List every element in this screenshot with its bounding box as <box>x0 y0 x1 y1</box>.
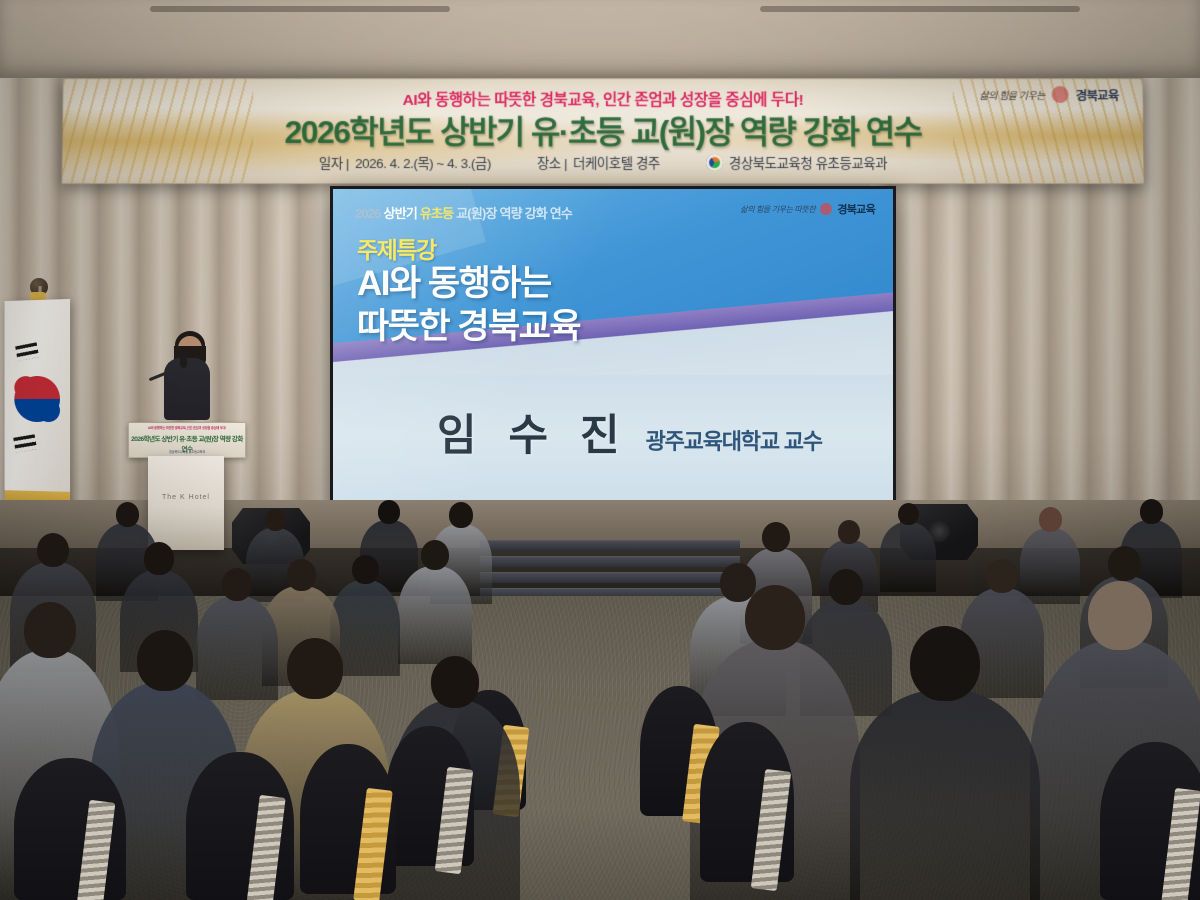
banner-organizer-label: 경상북도교육청 유초등교육과 <box>729 152 887 172</box>
audience-head <box>898 503 919 526</box>
audience-person <box>850 690 1040 900</box>
gyeongbuk-office-logo-icon <box>706 154 723 171</box>
slide-title-line-2: 따뜻한 경북교육 <box>357 306 580 349</box>
podium-banner-footer: 경상북도교육청 유초등교육과 <box>129 449 245 454</box>
projection-screen: 2026 상반기 유초등 교(원)장 역량 강화 연수 삶의 힘을 기우는 따뜻… <box>330 186 896 512</box>
audience-head <box>24 602 76 658</box>
audience-head <box>431 656 479 708</box>
stage-step <box>480 556 740 567</box>
podium-banner-subtitle: AI와 동행하는 따뜻한 경북교육, 인간 존엄과 성장을 중심에 두다! <box>129 425 245 430</box>
audience-head <box>449 502 473 528</box>
slide-brand-label: 경북교육 <box>837 201 875 217</box>
audience-head <box>287 638 343 698</box>
audience-head <box>829 569 863 606</box>
audience-head <box>137 630 193 690</box>
slide-title-line-1: AI와 동행하는 <box>357 263 580 306</box>
audience-head <box>1108 546 1141 582</box>
audience-head <box>1039 507 1062 532</box>
banner-brand-label: 경북교육 <box>1076 85 1119 104</box>
audience-person <box>398 566 472 664</box>
ceiling-slot <box>150 6 450 12</box>
slide-slogan-text: 삶의 힘을 기우는 따뜻한 <box>740 204 815 215</box>
audience-head <box>352 555 379 584</box>
banner-date-label: 일자 | <box>319 152 349 172</box>
podium-banner: AI와 동행하는 따뜻한 경북교육, 인간 존엄과 성장을 중심에 두다! 20… <box>128 422 246 458</box>
presenter-body <box>164 358 210 420</box>
slide-speaker-block: 임 수 진 광주교육대학교 교수 <box>437 401 822 463</box>
audience-head <box>287 559 316 590</box>
banner-place: 장소 | 더케이호텔 경주 <box>537 152 660 172</box>
stage-step <box>480 540 740 551</box>
slide-header-part2: 유초등 <box>420 206 453 221</box>
audience-head <box>1088 581 1152 650</box>
audience-head <box>745 585 805 650</box>
event-banner: AI와 동행하는 따뜻한 경북교육, 인간 존엄과 성장을 중심에 두다! 20… <box>61 78 1144 184</box>
audience-head <box>144 542 174 574</box>
audience-person <box>1020 528 1080 604</box>
audience-head <box>910 626 980 702</box>
audience-head <box>378 500 400 524</box>
seal-icon <box>820 203 832 215</box>
banner-title: 2026학년도 상반기 유·초등 교(원)장 역량 강화 연수 <box>63 107 1144 153</box>
seal-icon <box>1052 86 1069 103</box>
banner-slogan-text: 삶의 힘을 기우는 <box>979 87 1045 102</box>
banner-brand-mark: 삶의 힘을 기우는 경북교육 <box>979 85 1118 104</box>
audience-head <box>838 520 860 544</box>
hotel-logo: The K Hotel <box>148 494 224 501</box>
slide-header-part1: 상반기 <box>384 206 417 221</box>
audience-head <box>762 522 790 552</box>
audience-person <box>880 522 936 592</box>
flag-trigram-top <box>15 342 39 361</box>
slide-title: AI와 동행하는 따뜻한 경북교육 <box>357 263 580 348</box>
audience-head <box>37 533 69 568</box>
flag-trigram-bottom <box>13 434 37 452</box>
banner-date: 일자 | 2026. 4. 2.(목) ~ 4. 3.(금) <box>319 152 491 172</box>
slide-header-part3: 교(원)장 역량 강화 연수 <box>456 206 572 221</box>
ceiling-soffit <box>0 0 1200 78</box>
audience-person <box>196 596 278 700</box>
stage-step <box>480 572 740 583</box>
audience-head <box>986 559 1018 594</box>
taeguk-circle <box>14 376 60 422</box>
podium: AI와 동행하는 따뜻한 경북교육, 인간 존엄과 성장을 중심에 두다! 20… <box>140 410 232 550</box>
microphone-icon <box>180 352 187 368</box>
stage-steps <box>480 540 740 604</box>
banner-organizer: 경상북도교육청 유초등교육과 <box>706 152 887 172</box>
audience-head <box>222 568 252 600</box>
slide-brand-mark: 삶의 힘을 기우는 따뜻한 경북교육 <box>740 201 875 217</box>
audience-head <box>116 502 139 527</box>
audience-head <box>265 509 286 532</box>
banner-date-value: 2026. 4. 2.(목) ~ 4. 3.(금) <box>355 152 491 172</box>
korean-flag-icon <box>5 299 71 516</box>
ceiling-slot <box>760 6 1080 12</box>
slide-speaker-affiliation: 광주교육대학교 교수 <box>646 424 822 463</box>
banner-place-value: 더케이호텔 경주 <box>573 152 660 172</box>
conference-hall-photo: AI와 동행하는 따뜻한 경북교육, 인간 존엄과 성장을 중심에 두다! 20… <box>0 0 1200 900</box>
presentation-slide: 2026 상반기 유초등 교(원)장 역량 강화 연수 삶의 힘을 기우는 따뜻… <box>333 189 893 509</box>
banner-footer: 일자 | 2026. 4. 2.(목) ~ 4. 3.(금) 장소 | 더케이호… <box>62 152 1143 172</box>
slide-header: 2026 상반기 유초등 교(원)장 역량 강화 연수 <box>355 203 572 222</box>
audience-head <box>421 540 449 570</box>
slide-session-tag: 주제특강 <box>357 231 436 265</box>
podium-body: The K Hotel <box>148 456 224 550</box>
slide-speaker-name: 임 수 진 <box>437 401 630 463</box>
banner-place-label: 장소 | <box>537 152 567 172</box>
slide-header-year: 2026 <box>355 206 381 221</box>
audience-head <box>1140 499 1163 524</box>
audience-head <box>720 563 756 602</box>
